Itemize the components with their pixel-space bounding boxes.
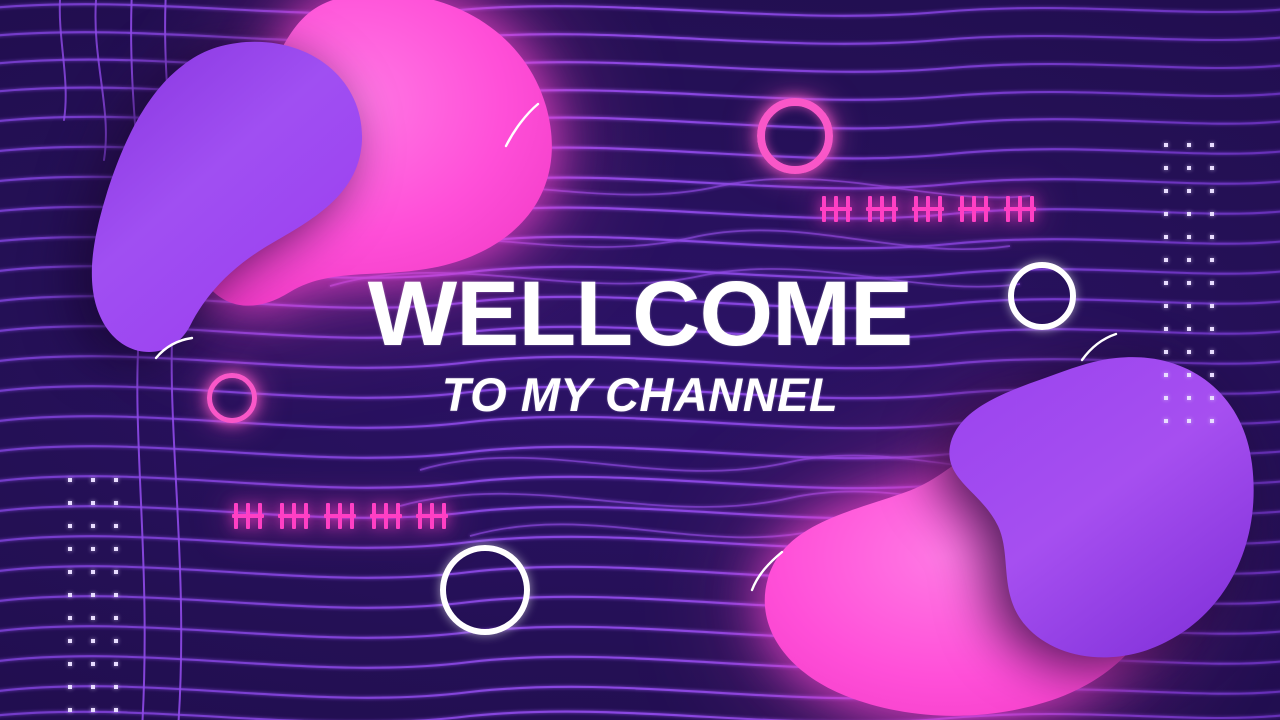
grid-dot [1187, 327, 1191, 331]
grid-dot [1187, 143, 1191, 147]
grid-dot [114, 708, 118, 712]
ring-white-right [1008, 262, 1076, 330]
grid-dot [1210, 396, 1214, 400]
arc-bottom-mid [746, 548, 790, 594]
grid-dot [91, 478, 95, 482]
grid-dot [91, 685, 95, 689]
grid-dot [1164, 350, 1168, 354]
grid-dot [1164, 212, 1168, 216]
tally-group [868, 196, 900, 222]
grid-dot [68, 662, 72, 666]
grid-dot [1187, 281, 1191, 285]
grid-dot [91, 708, 95, 712]
tally-group [822, 196, 854, 222]
grid-dot [114, 570, 118, 574]
grid-dot [1210, 304, 1214, 308]
grid-dot [114, 524, 118, 528]
grid-dot [1164, 189, 1168, 193]
tally-group [234, 503, 266, 529]
grid-dot [1210, 327, 1214, 331]
grid-dot [1187, 373, 1191, 377]
grid-dot [1210, 143, 1214, 147]
grid-dot [1187, 258, 1191, 262]
tally-group [280, 503, 312, 529]
grid-dot [1187, 212, 1191, 216]
dotgrid-left [68, 478, 137, 720]
grid-dot [114, 478, 118, 482]
tally-group [914, 196, 946, 222]
blob-purple-top-left [78, 36, 418, 366]
grid-dot [1210, 350, 1214, 354]
grid-dot [68, 593, 72, 597]
grid-dot [68, 478, 72, 482]
grid-dot [1187, 350, 1191, 354]
tally-group [1006, 196, 1038, 222]
grid-dot [68, 524, 72, 528]
grid-dot [114, 593, 118, 597]
grid-dot [68, 570, 72, 574]
ring-pink-top-right [757, 98, 833, 174]
grid-dot [68, 616, 72, 620]
grid-dot [1210, 258, 1214, 262]
grid-dot [1210, 419, 1214, 423]
tally-marks-top-right [822, 196, 1038, 222]
grid-dot [91, 616, 95, 620]
ring-pink-left [207, 373, 257, 423]
grid-dot [1210, 189, 1214, 193]
grid-dot [114, 616, 118, 620]
grid-dot [1187, 189, 1191, 193]
grid-dot [1187, 166, 1191, 170]
grid-dot [1164, 235, 1168, 239]
grid-dot [114, 639, 118, 643]
grid-dot [1187, 235, 1191, 239]
tally-group [960, 196, 992, 222]
ring-white-bottom [440, 545, 530, 635]
grid-dot [1164, 419, 1168, 423]
grid-dot [68, 639, 72, 643]
tally-group [418, 503, 450, 529]
arc-right-mid [1078, 330, 1120, 364]
grid-dot [1164, 166, 1168, 170]
grid-dot [91, 570, 95, 574]
grid-dot [91, 547, 95, 551]
grid-dot [1187, 396, 1191, 400]
grid-dot [91, 593, 95, 597]
grid-dot [68, 685, 72, 689]
grid-dot [1164, 281, 1168, 285]
grid-dot [114, 547, 118, 551]
grid-dot [1210, 212, 1214, 216]
grid-dot [1210, 166, 1214, 170]
arc-top-left [500, 100, 548, 152]
grid-dot [1164, 304, 1168, 308]
tally-group [326, 503, 358, 529]
grid-dot [1187, 304, 1191, 308]
grid-dot [114, 662, 118, 666]
grid-dot [1164, 327, 1168, 331]
grid-dot [1164, 258, 1168, 262]
grid-dot [1187, 419, 1191, 423]
grid-dot [68, 708, 72, 712]
grid-dot [1164, 396, 1168, 400]
tally-group [372, 503, 404, 529]
grid-dot [91, 639, 95, 643]
grid-dot [1210, 373, 1214, 377]
grid-dot [1164, 143, 1168, 147]
grid-dot [91, 524, 95, 528]
grid-dot [1210, 235, 1214, 239]
grid-dot [114, 501, 118, 505]
grid-dot [1210, 281, 1214, 285]
dotgrid-right [1164, 143, 1233, 442]
welcome-banner: WELLCOME TO MY CHANNEL [0, 0, 1280, 720]
grid-dot [1164, 373, 1168, 377]
grid-dot [91, 501, 95, 505]
arc-left-low [152, 334, 196, 364]
grid-dot [114, 685, 118, 689]
tally-marks-bottom-left [234, 503, 450, 529]
grid-dot [91, 662, 95, 666]
grid-dot [68, 547, 72, 551]
grid-dot [68, 501, 72, 505]
